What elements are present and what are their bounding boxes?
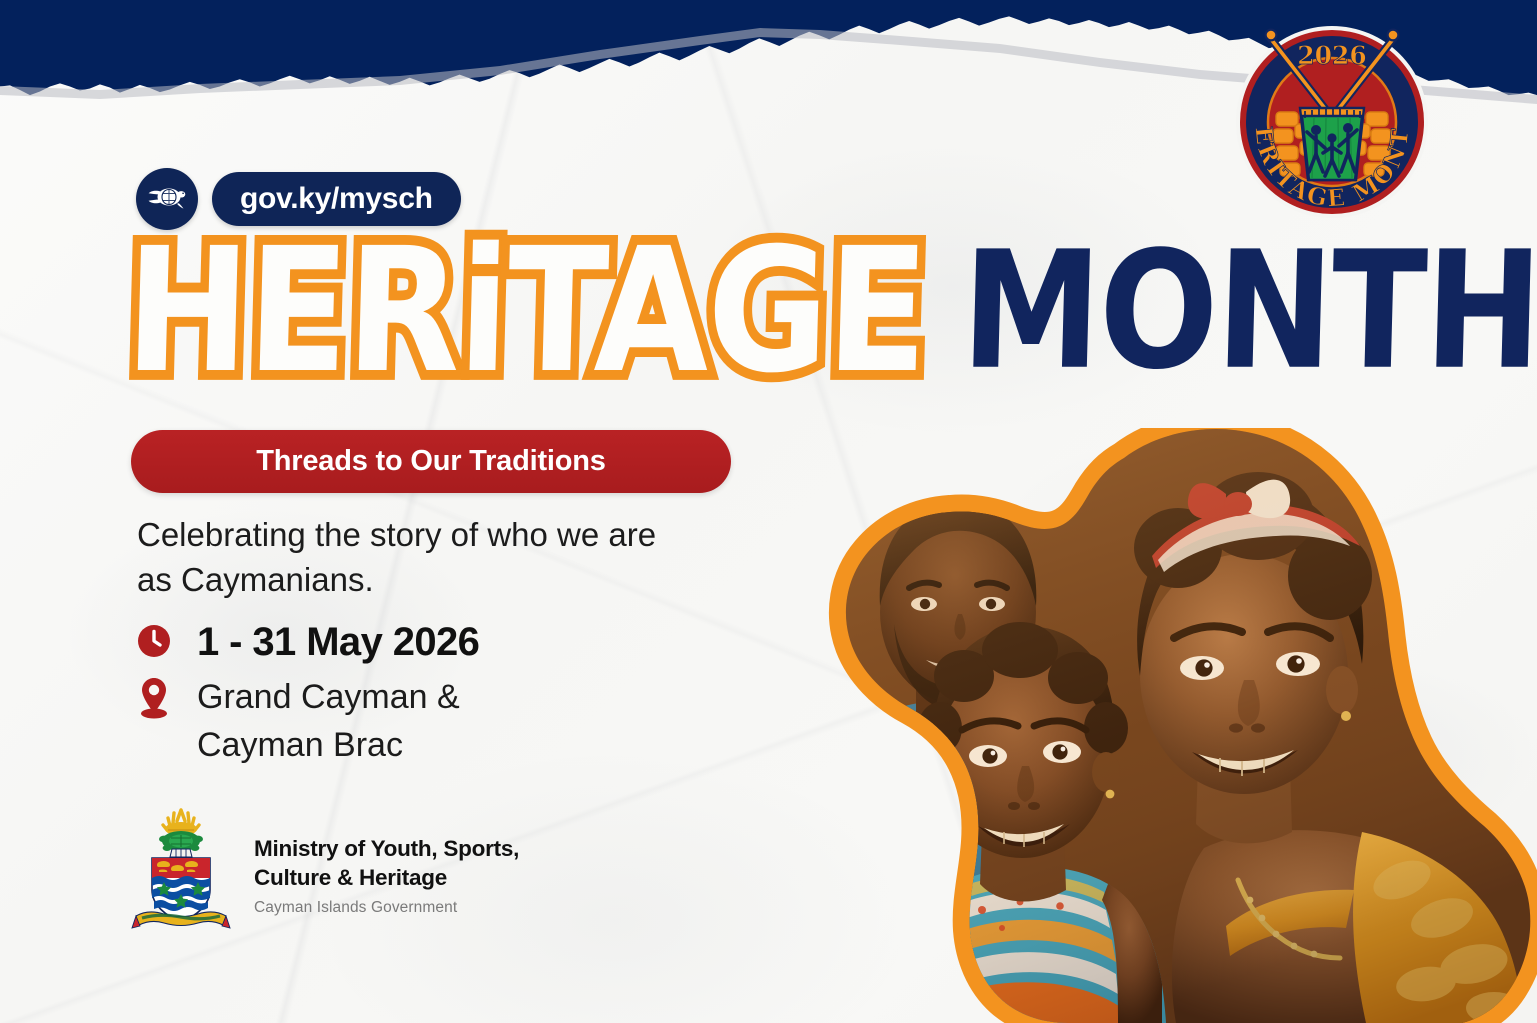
ministry-name-line2: Culture & Heritage [254,865,447,890]
page-title: HERiTAGE MONTH [128,225,1537,373]
tagline-text: Threads to Our Traditions [256,445,606,478]
event-location-text: Grand Cayman & Cayman Brac [175,673,460,770]
event-date-text: 1 - 31 May 2026 [175,620,479,665]
event-location-row: Grand Cayman & Cayman Brac [133,673,479,770]
tagline-banner: Threads to Our Traditions [131,430,731,493]
description-text: Celebrating the story of who we are as C… [137,512,697,602]
cayman-islands-coat-of-arms-icon [130,808,232,939]
heritage-month-seal-icon: 2026 HERITAGE MONTH [1228,12,1436,235]
ministry-name: Ministry of Youth, Sports, Culture & Her… [254,834,519,893]
event-location-line2: Cayman Brac [197,726,403,764]
title-word-heritage: HERiTAGE [124,225,929,397]
map-pin-icon [133,673,175,719]
event-location-line1: Grand Cayman & [197,678,460,716]
event-date-row: 1 - 31 May 2026 [133,620,479,665]
ministry-subtitle: Cayman Islands Government [254,899,519,917]
event-info-block: 1 - 31 May 2026 Grand Cayman & Cayman Br… [133,620,479,778]
seal-year: 2026 [1297,41,1367,70]
heritage-month-poster: gov.ky/mysch HERiTAGE MONTH Threads to O… [0,0,1537,1023]
clock-icon [133,620,175,658]
ministry-name-line1: Ministry of Youth, Sports, [254,836,519,861]
title-word-month: MONTH [960,231,1537,393]
ministry-text-block: Ministry of Youth, Sports, Culture & Her… [254,830,519,918]
ministry-logo-lockup: Ministry of Youth, Sports, Culture & Her… [130,808,519,939]
family-photo [806,428,1537,1023]
